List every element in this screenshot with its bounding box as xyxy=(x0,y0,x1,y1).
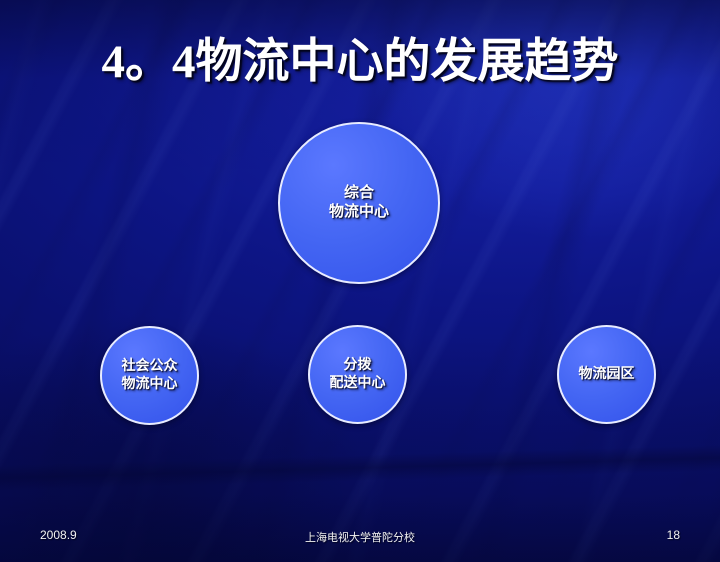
diagram-node-distribution-center[interactable]: 分拨 配送中心 xyxy=(308,325,407,424)
diagram-node-label: 分拨 配送中心 xyxy=(330,357,386,393)
diagram-node-label: 物流园区 xyxy=(579,366,635,384)
slide-footer: 2008.9 上海电视大学普陀分校 18 xyxy=(0,522,720,562)
diagram-node-label: 综合 物流中心 xyxy=(329,184,389,222)
footer-organization: 上海电视大学普陀分校 xyxy=(0,529,720,545)
footer-page-number: 18 xyxy=(667,528,680,542)
diagram-node-comprehensive-logistics-center[interactable]: 综合 物流中心 xyxy=(278,122,440,284)
diagram-node-public-logistics-center[interactable]: 社会公众 物流中心 xyxy=(100,326,199,425)
slide-title: 4。4物流中心的发展趋势 xyxy=(0,34,720,90)
diagram-node-logistics-park[interactable]: 物流园区 xyxy=(557,325,656,424)
slide-canvas: 4。4物流中心的发展趋势 综合 物流中心 社会公众 物流中心 分拨 配送中心 物… xyxy=(0,0,720,562)
diagram-node-label: 社会公众 物流中心 xyxy=(122,358,178,394)
